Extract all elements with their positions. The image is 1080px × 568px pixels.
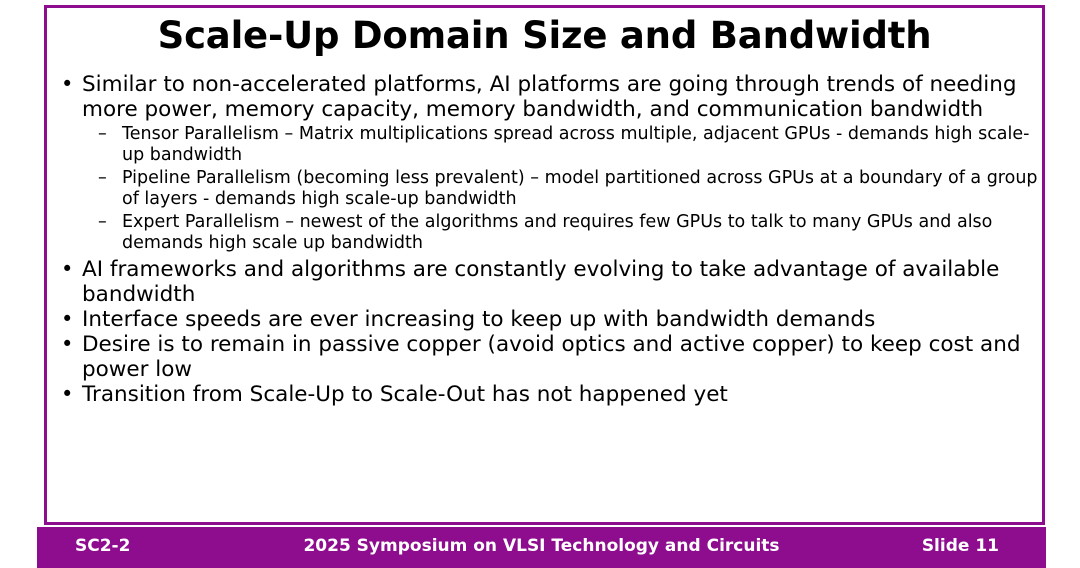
bullet-text: Transition from Scale-Up to Scale-Out ha… bbox=[82, 382, 728, 407]
bullet-list: • Similar to non-accelerated platforms, … bbox=[52, 72, 1042, 407]
bullet-marker-icon: • bbox=[61, 257, 73, 282]
bullet-marker-icon: • bbox=[61, 72, 73, 97]
list-item: • Similar to non-accelerated platforms, … bbox=[52, 72, 1042, 254]
dash-marker-icon: – bbox=[98, 168, 107, 189]
list-item: – Tensor Parallelism – Matrix multiplica… bbox=[96, 124, 1042, 166]
footer-conference-name: 2025 Symposium on VLSI Technology and Ci… bbox=[37, 536, 1046, 556]
list-item: • Transition from Scale-Up to Scale-Out … bbox=[52, 382, 1042, 407]
bullet-text: Interface speeds are ever increasing to … bbox=[82, 307, 875, 332]
page-title: Scale-Up Domain Size and Bandwidth bbox=[44, 14, 1045, 57]
bullet-marker-icon: • bbox=[61, 307, 73, 332]
slide-body: • Similar to non-accelerated platforms, … bbox=[52, 72, 1042, 407]
bullet-text: AI frameworks and algorithms are constan… bbox=[82, 257, 999, 307]
dash-marker-icon: – bbox=[98, 124, 107, 145]
sub-bullet-list: – Tensor Parallelism – Matrix multiplica… bbox=[82, 124, 1042, 254]
bullet-text: Desire is to remain in passive copper (a… bbox=[82, 332, 1020, 382]
sub-bullet-text: Pipeline Parallelism (becoming less prev… bbox=[122, 168, 1038, 209]
list-item: • Desire is to remain in passive copper … bbox=[52, 332, 1042, 382]
list-item: • Interface speeds are ever increasing t… bbox=[52, 307, 1042, 332]
slide-footer: SC2-2 2025 Symposium on VLSI Technology … bbox=[37, 527, 1046, 568]
list-item: – Expert Parallelism – newest of the alg… bbox=[96, 212, 1042, 254]
list-item: • AI frameworks and algorithms are const… bbox=[52, 257, 1042, 307]
bullet-marker-icon: • bbox=[61, 382, 73, 407]
sub-bullet-text: Tensor Parallelism – Matrix multiplicati… bbox=[122, 124, 1029, 165]
bullet-text: Similar to non-accelerated platforms, AI… bbox=[82, 72, 1017, 122]
dash-marker-icon: – bbox=[98, 212, 107, 233]
slide: Scale-Up Domain Size and Bandwidth • Sim… bbox=[0, 0, 1080, 568]
list-item: – Pipeline Parallelism (becoming less pr… bbox=[96, 168, 1042, 210]
bullet-marker-icon: • bbox=[61, 332, 73, 357]
footer-slide-number: Slide 11 bbox=[922, 536, 999, 556]
sub-bullet-text: Expert Parallelism – newest of the algor… bbox=[122, 212, 992, 253]
